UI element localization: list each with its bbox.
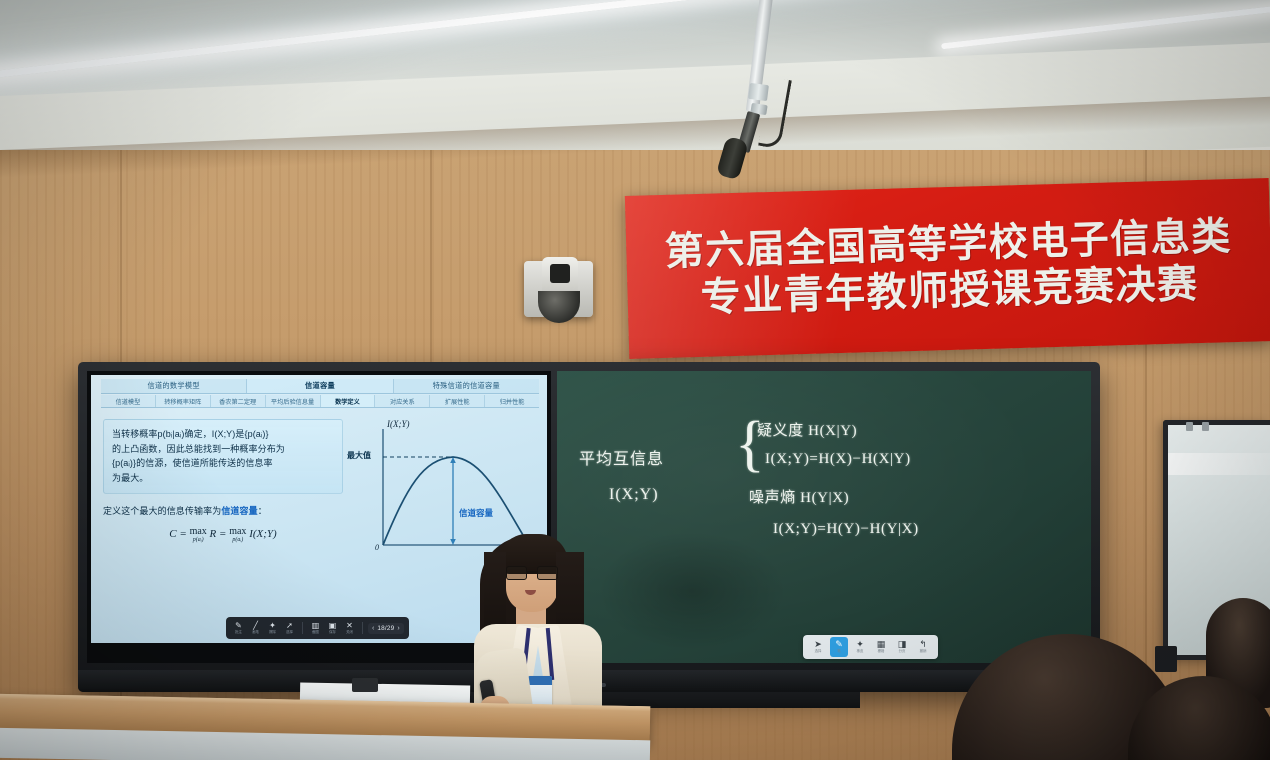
camera-lens-icon bbox=[550, 264, 570, 283]
pen-icon[interactable]: ✎ 笔 bbox=[830, 637, 848, 657]
whiteboard-pen-tray bbox=[1155, 646, 1177, 672]
formula-max-2: max p(aᵢ) bbox=[229, 526, 246, 543]
banner-line-2: 专业青年教师授课竞赛决赛 bbox=[700, 263, 1199, 319]
capacity-formula: C = max p(aᵢ) R = max p(aᵢ) bbox=[103, 526, 343, 543]
event-banner: 第六届全国高等学校电子信息类 专业青年教师授课竞赛决赛 bbox=[625, 178, 1270, 359]
toolbar-divider bbox=[362, 622, 363, 634]
slide-definition-box: 定义这个最大的信息传输率为信道容量： C = max p(aᵢ) R = bbox=[103, 504, 343, 543]
podium-clip bbox=[352, 678, 378, 692]
light-tool-label-4: 分页 bbox=[899, 650, 906, 653]
chalk-row-2: 噪声熵 H(Y|X) bbox=[749, 486, 849, 507]
eraser-icon[interactable]: ✦ 橡皮 bbox=[851, 637, 869, 657]
nav-sub-item-3[interactable]: 平均后验信息量 bbox=[266, 395, 321, 407]
annotation-toolbar-dark[interactable]: ✎ 批注 ╱ 画笔 ✦ 擦除 ➚ 选择 bbox=[226, 617, 409, 639]
formula-max2-text: max bbox=[229, 526, 246, 537]
formula-lhs: C bbox=[169, 528, 176, 540]
annotation-toolbar-light[interactable]: ➤ 选择 ✎ 笔 ✦ 橡皮 ▦ 栅格 ◨ 分页 bbox=[803, 635, 938, 659]
chart-origin-label: 0 bbox=[375, 543, 379, 552]
eraser-glyph: ✦ bbox=[856, 640, 864, 649]
close-glyph: ✕ bbox=[346, 622, 353, 630]
nav-sub-item-2[interactable]: 香农第二定理 bbox=[211, 395, 266, 407]
badge-header-strip bbox=[528, 676, 552, 685]
pointer-glyph: ➚ bbox=[286, 622, 293, 630]
toolbar-divider bbox=[302, 622, 303, 634]
nav-sub-item-1[interactable]: 转移概率矩阵 bbox=[156, 395, 211, 407]
lecture-hall-photo: 第六届全国高等学校电子信息类 专业青年教师授课竞赛决赛 信道的数学模型 信道容量… bbox=[0, 0, 1270, 760]
pointer-icon[interactable]: ➚ 选择 bbox=[282, 619, 297, 637]
slide-paragraph-box: 当转移概率p(bᵢ|aᵢ)确定，I(X;Y)是{p(aᵢ)} 的上凸函数，因此总… bbox=[103, 419, 343, 494]
nav-top-item-0[interactable]: 信道的数学模型 bbox=[101, 379, 247, 393]
slide-nav-sub: 信道模型 转移概率矩阵 香农第二定理 平均后验信息量 数学定义 对应关系 扩展性… bbox=[101, 395, 539, 408]
chalk-left-symbol: I(X;Y) bbox=[609, 486, 659, 504]
pen-icon[interactable]: ✎ 批注 bbox=[231, 619, 246, 637]
chalk-smudge bbox=[597, 531, 787, 651]
screenshot-glyph: ▥ bbox=[312, 622, 320, 630]
nav-sub-item-7[interactable]: 归并性能 bbox=[485, 395, 539, 407]
definition-suffix: ： bbox=[258, 506, 267, 516]
pen-glyph: ✎ bbox=[835, 640, 843, 649]
nav-top-item-2[interactable]: 特殊信道的信道容量 bbox=[394, 379, 539, 393]
light-tool-label-0: 选择 bbox=[815, 650, 822, 653]
definition-term: 信道容量 bbox=[221, 506, 257, 516]
formula-sub2-text: p(aᵢ) bbox=[229, 537, 246, 543]
light-tool-label-2: 橡皮 bbox=[857, 650, 864, 653]
pen-glyph: ✎ bbox=[235, 622, 242, 630]
light-tool-label-1: 笔 bbox=[837, 650, 840, 653]
slide-nav-top: 信道的数学模型 信道容量 特殊信道的信道容量 bbox=[101, 379, 539, 394]
save-glyph: ▣ bbox=[329, 622, 337, 630]
cursor-icon[interactable]: ➤ 选择 bbox=[809, 637, 827, 657]
save-icon[interactable]: ▣ 保存 bbox=[325, 619, 340, 637]
tool-label-4: 截图 bbox=[312, 631, 319, 634]
chalk-row-1: I(X;Y)=H(X)−H(X|Y) bbox=[765, 451, 911, 468]
cursor-glyph: ➤ bbox=[814, 640, 822, 649]
light-tool-label-3: 栅格 bbox=[878, 650, 885, 653]
whiteboard-clip bbox=[1186, 422, 1193, 431]
formula-max-1: max p(aᵢ) bbox=[190, 526, 207, 543]
tool-label-5: 保存 bbox=[329, 631, 336, 634]
page-icon[interactable]: ◨ 分页 bbox=[893, 637, 911, 657]
chart-capacity-label: 信道容量 bbox=[459, 507, 493, 519]
close-icon[interactable]: ✕ 关闭 bbox=[342, 619, 357, 637]
tool-label-6: 关闭 bbox=[346, 631, 353, 634]
undo-icon[interactable]: ↰ 撤销 bbox=[914, 637, 932, 657]
slide-text-column: 当转移概率p(bᵢ|aᵢ)确定，I(X;Y)是{p(aᵢ)} 的上凸函数，因此总… bbox=[103, 419, 343, 543]
tool-label-0: 批注 bbox=[235, 631, 242, 634]
formula-eq1: = bbox=[179, 528, 186, 540]
nav-sub-item-6[interactable]: 扩展性能 bbox=[430, 395, 485, 407]
tool-label-2: 擦除 bbox=[269, 631, 276, 634]
nav-sub-item-5[interactable]: 对应关系 bbox=[375, 395, 430, 407]
glasses-lens-right bbox=[537, 566, 558, 580]
definition-sentence: 定义这个最大的信息传输率为信道容量： bbox=[103, 504, 343, 517]
glasses-icon bbox=[506, 566, 558, 580]
screenshot-icon[interactable]: ▥ 截图 bbox=[308, 619, 323, 637]
chalk-left-title: 平均互信息 bbox=[579, 445, 664, 469]
formula-eq2: = bbox=[219, 528, 226, 540]
definition-prefix: 定义这个最大的信息传输率为 bbox=[103, 506, 221, 516]
whiteboard-glare bbox=[1168, 453, 1270, 475]
formula-term1: R bbox=[210, 528, 217, 540]
prev-slide-icon[interactable]: ‹ bbox=[372, 625, 374, 632]
chalkboard: 平均互信息 I(X;Y) { 疑义度 H(X|Y) I(X;Y)=H(X)−H(… bbox=[557, 371, 1091, 663]
formula-term2: I(X;Y) bbox=[249, 528, 277, 540]
formula-max1-text: max bbox=[190, 526, 207, 537]
light-tool-label-5: 撤销 bbox=[920, 650, 927, 653]
chart-arrow-head-down bbox=[450, 539, 456, 545]
slide-pager[interactable]: ‹ 18/29 › bbox=[368, 623, 404, 634]
paragraph-line-3: 为最大。 bbox=[112, 471, 334, 486]
nav-top-item-1[interactable]: 信道容量 bbox=[247, 379, 393, 393]
page-glyph: ◨ bbox=[898, 640, 907, 649]
grid-glyph: ▦ bbox=[877, 640, 886, 649]
tool-label-1: 画笔 bbox=[252, 631, 259, 634]
chalk-row-0: 疑义度 H(X|Y) bbox=[757, 419, 857, 440]
chart-max-label: 最大值 bbox=[347, 450, 371, 461]
whiteboard-clip bbox=[1202, 422, 1209, 431]
glasses-bridge bbox=[527, 571, 537, 573]
ptz-camera bbox=[524, 261, 593, 317]
nav-sub-item-0[interactable]: 信道模型 bbox=[101, 395, 156, 407]
line-icon[interactable]: ╱ 画笔 bbox=[248, 619, 263, 637]
eraser-glyph: ✦ bbox=[269, 622, 276, 630]
next-slide-icon[interactable]: › bbox=[397, 625, 399, 632]
eraser-icon[interactable]: ✦ 擦除 bbox=[265, 619, 280, 637]
chart-y-axis-label: I(X;Y) bbox=[387, 419, 410, 429]
line-glyph: ╱ bbox=[253, 622, 258, 630]
paragraph-line-1: 的上凸函数，因此总能找到一种概率分布为 bbox=[112, 442, 334, 457]
tool-label-3: 选择 bbox=[286, 631, 293, 634]
paragraph-line-2: {p(aᵢ)}的信源，使信道所能传送的信息率 bbox=[112, 456, 334, 471]
nav-sub-item-4[interactable]: 数学定义 bbox=[321, 395, 376, 407]
page-indicator: 18/29 bbox=[377, 625, 394, 632]
formula-sub1-text: p(aᵢ) bbox=[190, 537, 207, 543]
paragraph-line-0: 当转移概率p(bᵢ|aᵢ)确定，I(X;Y)是{p(aᵢ)} bbox=[112, 427, 334, 442]
grid-icon[interactable]: ▦ 栅格 bbox=[872, 637, 890, 657]
undo-glyph: ↰ bbox=[919, 640, 927, 649]
chalk-row-3: I(X;Y)=H(Y)−H(Y|X) bbox=[773, 521, 919, 538]
microphone-collar bbox=[748, 83, 769, 101]
glasses-lens-left bbox=[506, 566, 527, 580]
